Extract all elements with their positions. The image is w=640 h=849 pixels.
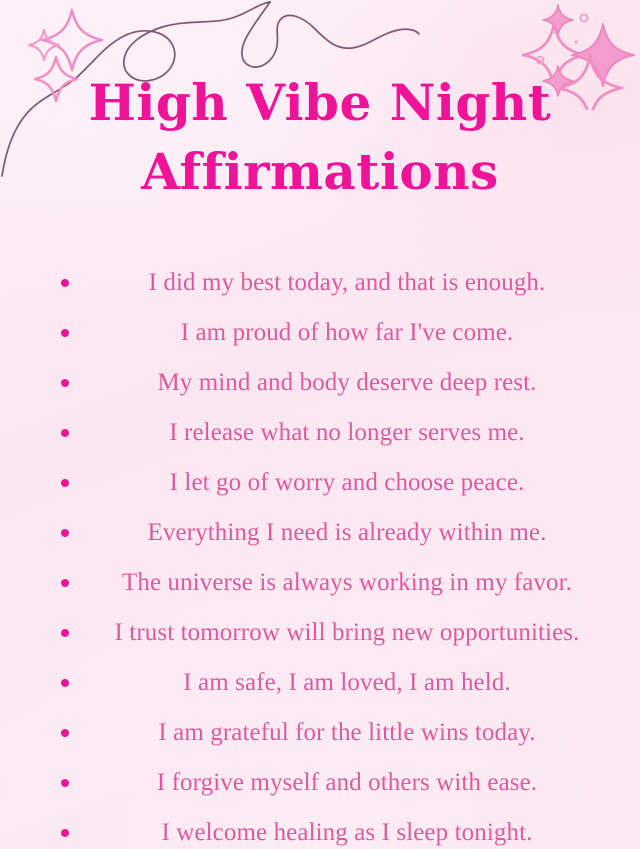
list-item: Everything I need is already within me.: [0, 508, 640, 558]
affirmation-text: I am proud of how far I've come.: [0, 318, 640, 348]
affirmation-text: I did my best today, and that is enough.: [0, 268, 640, 298]
affirmation-text: My mind and body deserve deep rest.: [0, 368, 640, 398]
bullet-icon: [61, 779, 69, 787]
bullet-icon: [61, 529, 69, 537]
bullet-icon: [61, 579, 69, 587]
page-title: High Vibe Night Affirmations: [0, 68, 640, 206]
list-item: I release what no longer serves me.: [0, 408, 640, 458]
affirmation-text: The universe is always working in my fav…: [0, 568, 640, 598]
affirmation-text: I trust tomorrow will bring new opportun…: [0, 618, 640, 648]
list-item: I am safe, I am loved, I am held.: [0, 658, 640, 708]
list-item: I am grateful for the little wins today.: [0, 708, 640, 758]
list-item: I forgive myself and others with ease.: [0, 758, 640, 808]
affirmations-poster: High Vibe Night Affirmations I did my be…: [0, 0, 640, 849]
affirmation-text: I release what no longer serves me.: [0, 418, 640, 448]
title-line-2: Affirmations: [0, 137, 640, 206]
affirmation-text: I let go of worry and choose peace.: [0, 468, 640, 498]
affirmation-text: I am safe, I am loved, I am held.: [0, 668, 640, 698]
bullet-icon: [61, 479, 69, 487]
list-item: I am proud of how far I've come.: [0, 308, 640, 358]
bullet-icon: [61, 429, 69, 437]
list-item: I did my best today, and that is enough.: [0, 258, 640, 308]
bullet-icon: [61, 729, 69, 737]
bullet-icon: [61, 679, 69, 687]
title-line-1: High Vibe Night: [0, 68, 640, 137]
bullet-icon: [61, 629, 69, 637]
list-item: I welcome healing as I sleep tonight.: [0, 808, 640, 849]
bullet-icon: [61, 279, 69, 287]
list-item: My mind and body deserve deep rest.: [0, 358, 640, 408]
bullet-icon: [61, 329, 69, 337]
affirmation-text: Everything I need is already within me.: [0, 518, 640, 548]
bullet-icon: [61, 379, 69, 387]
affirmations-list: I did my best today, and that is enough.…: [0, 258, 640, 849]
affirmation-text: I am grateful for the little wins today.: [0, 718, 640, 748]
list-item: I trust tomorrow will bring new opportun…: [0, 608, 640, 658]
affirmation-text: I forgive myself and others with ease.: [0, 768, 640, 798]
list-item: I let go of worry and choose peace.: [0, 458, 640, 508]
bullet-icon: [61, 829, 69, 837]
affirmation-text: I welcome healing as I sleep tonight.: [0, 818, 640, 848]
list-item: The universe is always working in my fav…: [0, 558, 640, 608]
